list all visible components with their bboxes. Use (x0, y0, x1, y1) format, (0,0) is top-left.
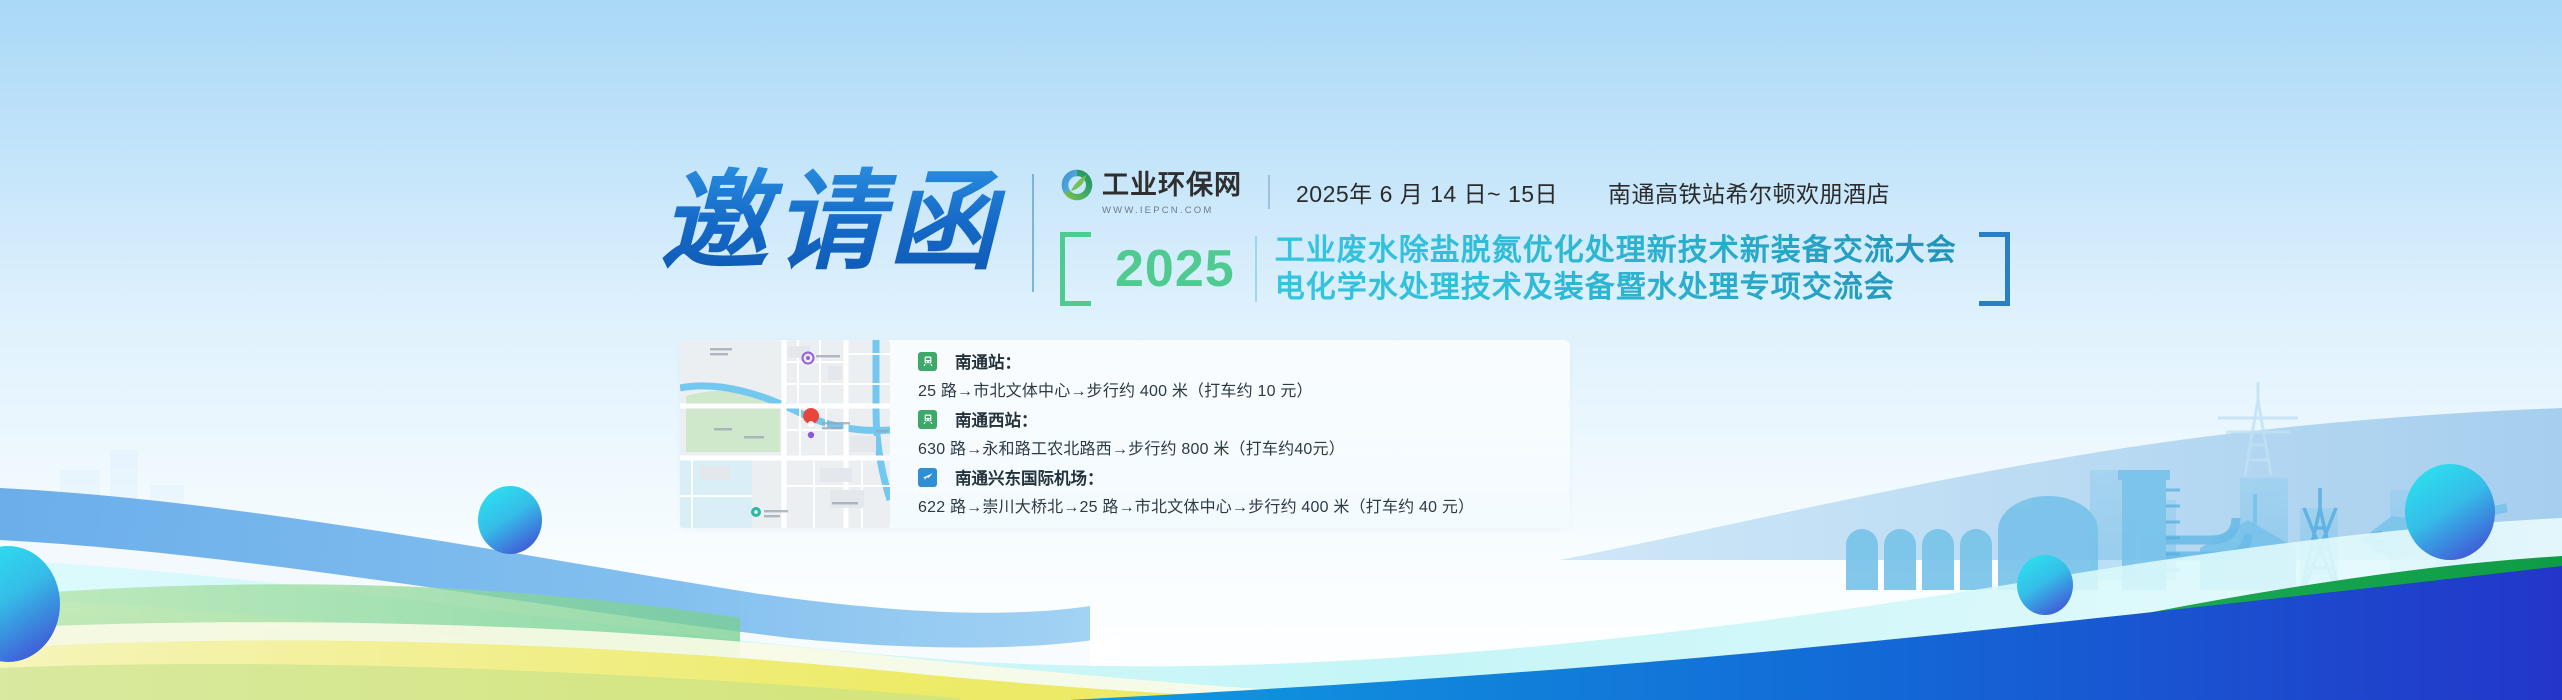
brand-name: 工业环保网 (1102, 172, 1242, 199)
leaf-circle-logo-icon (1060, 168, 1094, 202)
bracket-left-icon (1060, 232, 1091, 306)
industrial-plant-silhouette (1846, 470, 2296, 590)
brand-date-row: 工业环保网 WWW.IEPCN.COM 2025年 6 月 14 日~ 15日 … (1060, 168, 2010, 216)
invitation-banner: 邀请函 (0, 0, 2562, 700)
list-item: 南通兴东国际机场： 622 路→崇川大桥北→25 路→市北文体中心→步行约 40… (918, 466, 1570, 517)
decorative-ball (2405, 464, 2495, 560)
plane-icon (918, 468, 937, 487)
page-title: 邀请函 (660, 160, 1020, 276)
brand-logo: 工业环保网 WWW.IEPCN.COM (1060, 168, 1242, 216)
pipeline-silhouette (2166, 518, 2248, 556)
conference-name-2: 电化学水处理技术及装备暨水处理专项交流会 (1275, 269, 1957, 306)
station-name: 南通兴东国际机场： (955, 465, 1104, 489)
train-icon (918, 410, 937, 429)
header-divider (1032, 174, 1034, 292)
list-item: 南通站： 25 路→市北文体中心→步行约 400 米（打车约 10 元） (918, 350, 1570, 401)
station-name: 南通西站： (955, 407, 1038, 431)
event-date: 2025年 6 月 14 日~ 15日 (1296, 175, 1558, 209)
transport-list: 南通站： 25 路→市北文体中心→步行约 400 米（打车约 10 元） (890, 340, 1570, 528)
brand-url: WWW.IEPCN.COM (1102, 205, 1242, 216)
route-description: 622 路→崇川大桥北→25 路→市北文体中心→步行约 400 米（打车约 40… (918, 493, 1570, 517)
event-venue: 南通高铁站希尔顿欢朋酒店 (1608, 175, 1890, 209)
map-poi-marker-2 (751, 507, 761, 517)
conference-title-row: 2025 工业废水除盐脱氮优化处理新技术新装备交流大会 电化学水处理技术及装备暨… (1060, 232, 2010, 306)
conference-names: 工业废水除盐脱氮优化处理新技术新装备交流大会 电化学水处理技术及装备暨水处理专项… (1275, 232, 1957, 306)
decorative-ball (0, 546, 60, 662)
list-item: 南通西站： 630 路→永和路工农北路西→步行约 800 米（打车约40元） (918, 408, 1570, 459)
route-description: 630 路→永和路工农北路西→步行约 800 米（打车约40元） (918, 435, 1570, 459)
industrial-skyline-far (2090, 470, 2495, 580)
banner-header: 邀请函 (660, 160, 2010, 306)
event-year: 2025 (1091, 232, 1255, 306)
train-icon (918, 352, 937, 371)
transport-info-panel: 南通站： 25 路→市北文体中心→步行约 400 米（打车约 10 元） (680, 340, 1570, 528)
lattice-tower-icon (2302, 488, 2338, 588)
pumpjack-icon (2360, 503, 2508, 572)
bracket-right-icon (1979, 232, 2010, 306)
station-name: 南通站： (955, 349, 1021, 373)
year-divider (1255, 236, 1257, 302)
conference-name-1: 工业废水除盐脱氮优化处理新技术新装备交流大会 (1275, 232, 1957, 269)
decorative-ball (2017, 555, 2073, 615)
header-content: 工业环保网 WWW.IEPCN.COM 2025年 6 月 14 日~ 15日 … (1060, 160, 2010, 306)
decorative-ball (478, 486, 542, 554)
power-pylon-icon (2218, 382, 2298, 475)
route-description: 25 路→市北文体中心→步行约 400 米（打车约 10 元） (918, 377, 1570, 401)
venue-map[interactable] (680, 340, 890, 528)
brand-date-divider (1268, 175, 1270, 209)
